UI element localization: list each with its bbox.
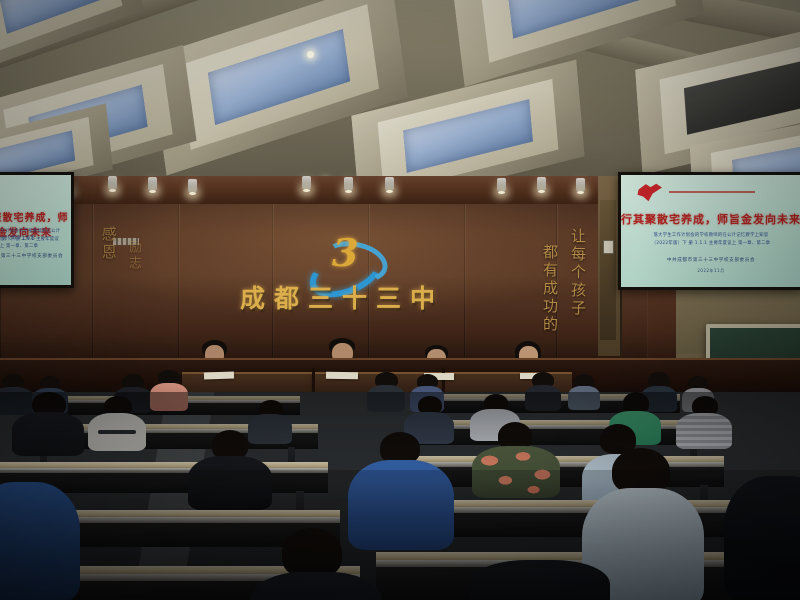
school-logo: 3 — [306, 232, 382, 284]
track-spotlight — [385, 177, 394, 191]
track-spotlight — [576, 178, 585, 192]
document-on-table — [326, 372, 358, 380]
wall-light-switch[interactable] — [603, 240, 614, 254]
slide-organization: 中共成都市第三十三中学校支部委员会 — [621, 257, 800, 263]
slide-divider — [669, 191, 755, 193]
track-spotlight — [188, 179, 197, 193]
ceiling-downlight — [307, 51, 314, 58]
track-spotlight — [302, 176, 311, 190]
school-name-sign: 成都三十三中 — [222, 279, 462, 315]
track-spotlight — [537, 177, 546, 191]
track-spotlight — [344, 177, 353, 191]
coffered-ceiling — [0, 0, 800, 185]
slide-title: 行其聚散宅养成，师旨金发向未来 — [621, 211, 800, 227]
party-emblem-icon — [637, 183, 663, 202]
track-spotlight — [108, 176, 117, 190]
side-door-panel[interactable] — [600, 200, 616, 340]
calligraphy-right-panel-2: 都有成功的 — [540, 244, 561, 334]
track-spotlight — [148, 177, 157, 191]
right-projection-screen: 行其聚散宅养成，师旨金发向未来 落大学生工作计划会的学校教师的在公计记忆教学上知… — [618, 172, 800, 290]
lecture-hall-photo: 3 成都三十三中 感恩 励志 让每个孩子 都有成功的 行其聚散宅养成，师旨金发向… — [0, 0, 800, 600]
track-spotlight — [497, 178, 506, 192]
calligraphy-left-panel: 感恩 — [100, 226, 116, 262]
calligraphy-right-panel: 让每个孩子 — [568, 228, 589, 318]
slide-subtitle-2: （2022年版）下 册 1.1.1 主要年度议上 第一章、第二章 — [631, 241, 791, 248]
left-projection-screen: 行其聚散宅养成，师旨金发向未来 落大学生工作计划会的学校教师的在公计记忆教学上知… — [0, 172, 74, 288]
document-on-table — [204, 371, 234, 379]
slide-subtitle-left-2: （2022年版）下 册 1.1.1 主要年度议上 第一章、第二章 — [0, 237, 61, 251]
slide-date: 2022年11月 — [621, 268, 800, 274]
calligraphy-left-panel-2: 励志 — [124, 240, 143, 272]
slide-subtitle-1: 落大学生工作计划会的学校教师的在公计记忆教学上知思 — [631, 233, 791, 240]
slide-organization-left: 中共成都市第三十三中学校支部委员会 — [0, 253, 71, 259]
